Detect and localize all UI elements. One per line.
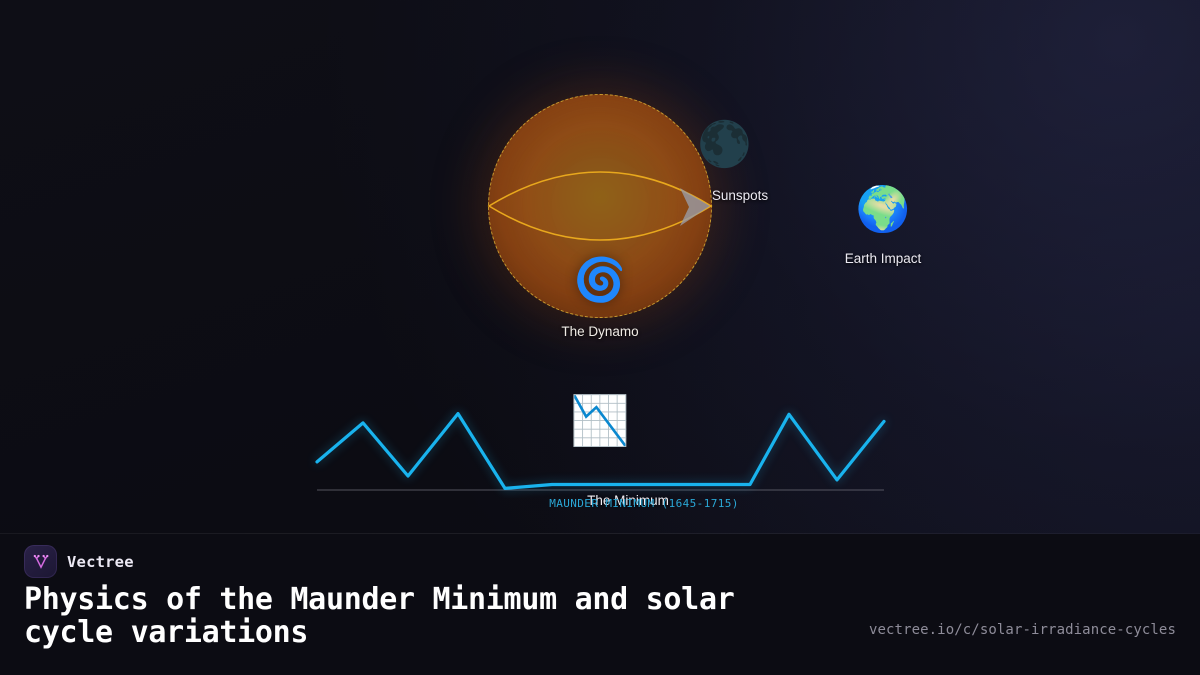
solar-cycle-chart[interactable]: 📉 The Minimum MAUNDER MINIMUM (1645-1715… — [300, 398, 900, 518]
earth-globe-icon: 🌍 — [856, 188, 911, 232]
brand-name: Vectree — [67, 553, 134, 571]
cyclone-icon: 🌀 — [574, 259, 626, 301]
new-moon-icon: 🌑 — [697, 123, 752, 167]
vectree-logo-icon — [24, 545, 57, 578]
sunspots-label: Sunspots — [712, 188, 768, 203]
node-sunspots[interactable]: 🌑 Sunspots — [680, 123, 800, 213]
maunder-minimum-annotation: MAUNDER MINIMUM (1645-1715) — [549, 497, 739, 510]
earth-impact-label: Earth Impact — [845, 251, 922, 266]
node-earth-impact[interactable]: 🌍 Earth Impact — [823, 188, 943, 280]
diagram-area: 🌀 The Dynamo 🌑 Sunspots 🌍 Earth Impact 📉 — [0, 0, 1200, 533]
brand-block[interactable]: Vectree — [24, 545, 134, 578]
slide-canvas: 🌀 The Dynamo 🌑 Sunspots 🌍 Earth Impact 📉 — [0, 0, 1200, 675]
page-title: Physics of the Maunder Minimum and solar… — [24, 584, 804, 649]
chart-decreasing-icon: 📉 — [570, 398, 630, 446]
footer-bar: Vectree Physics of the Maunder Minimum a… — [0, 534, 1200, 675]
dynamo-label: The Dynamo — [561, 324, 638, 339]
source-url: vectree.io/c/solar-irradiance-cycles — [869, 622, 1176, 638]
